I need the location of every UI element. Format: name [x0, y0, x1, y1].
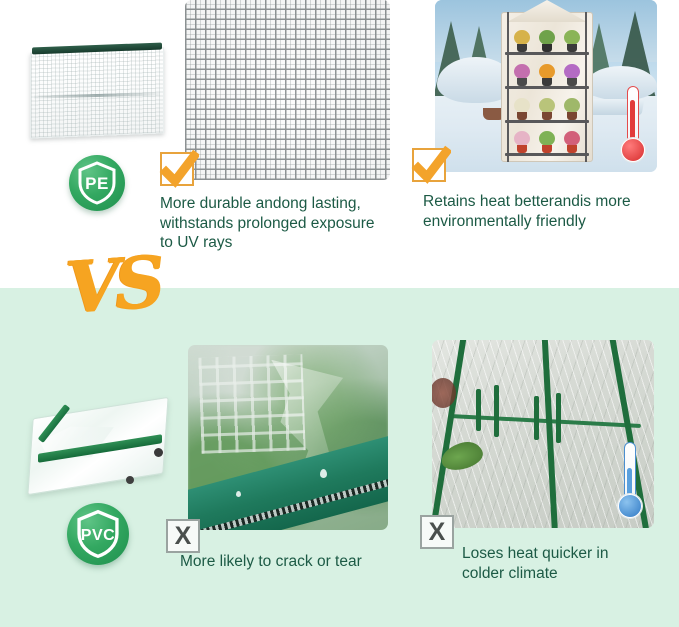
pvc-crack-photo [188, 345, 388, 530]
feature-text-durability: More durable andong lasting, withstands … [160, 194, 422, 253]
blue-thermometer-icon [618, 442, 640, 518]
zipper-pull [126, 476, 134, 484]
shelf-plants [509, 58, 585, 86]
drawback-text-crack: More likely to crack or tear [180, 552, 430, 572]
vs-divider-logo: VS [64, 245, 159, 325]
zipper-pull [154, 448, 163, 457]
pvc-product-photo [22, 398, 174, 496]
red-thermometer-icon [621, 86, 643, 162]
water-droplet [320, 469, 327, 478]
check-mark-icon-durability [160, 152, 194, 186]
comparison-infographic: PE More durable andong lasting, withstan… [0, 0, 679, 627]
zipper-strip [534, 396, 539, 440]
greenhouse-shelf [505, 120, 589, 123]
greenhouse-shelf [505, 153, 589, 156]
drawback-text-heat-loss: Loses heat quicker in colder climate [462, 544, 677, 583]
greenhouse-shelf [505, 52, 589, 55]
shelf-plants [509, 92, 585, 120]
feature-text-heat-retention: Retains heat betterandis more environmen… [423, 192, 675, 231]
pvc-badge-label: PVC [67, 503, 129, 567]
pe-badge-label: PE [69, 155, 125, 212]
pe-product-photo [24, 36, 170, 144]
thermometer-bulb [618, 494, 642, 518]
shelf-plants [509, 125, 585, 153]
pvc-frost-photo [432, 340, 654, 528]
tiered-greenhouse [501, 12, 593, 162]
zipper-strip [556, 393, 561, 443]
pe-mesh-photo [185, 0, 390, 180]
cross-mark-icon-crack: X [166, 519, 200, 553]
greenhouse-shelf [505, 86, 589, 89]
background-foliage [432, 378, 456, 408]
cross-mark-icon-heat-loss: X [420, 515, 454, 549]
zipper-strip [494, 385, 499, 437]
thermometer-bulb [621, 138, 645, 162]
greenhouse-snow-photo [435, 0, 657, 172]
water-droplet [236, 491, 241, 497]
pe-material-badge: PE [69, 155, 125, 211]
shelf-plants [509, 24, 585, 52]
pvc-material-badge: PVC [67, 503, 129, 565]
check-mark-icon-heat [412, 148, 446, 182]
zipper-strip [476, 389, 481, 431]
